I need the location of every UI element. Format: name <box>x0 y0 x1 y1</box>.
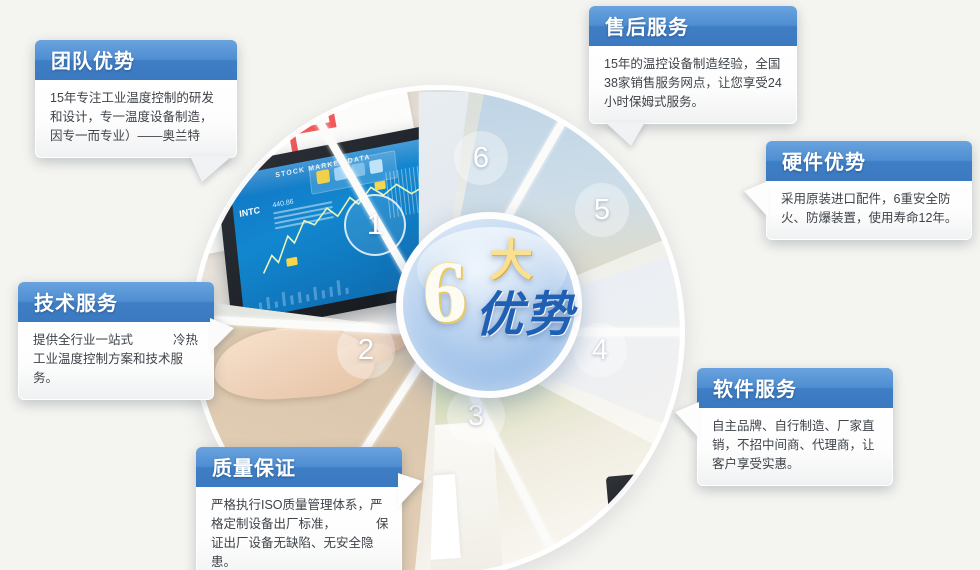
card-pointer <box>190 156 232 182</box>
card-body: 采用原装进口配件，6重安全防火、防爆装置，使用寿命12年。 <box>766 181 972 240</box>
card-title: 质量保证 <box>196 447 402 487</box>
calculator <box>606 471 674 530</box>
callout-card-team[interactable]: 团队优势 15年专注工业温度控制的研发和设计，专一温度设备制造，因专一而专业）—… <box>35 40 237 158</box>
card-pointer <box>210 318 234 352</box>
colored-page-tabs <box>627 528 670 548</box>
segment-badge-5[interactable]: 5 <box>575 183 629 237</box>
card-body: 15年的温控设备制造经验，全国38家销售服务网点，让您享受24小时保姆式服务。 <box>589 46 797 124</box>
card-pointer <box>744 181 768 217</box>
hub-number: 6 <box>423 249 467 337</box>
card-title: 团队优势 <box>35 40 237 80</box>
callout-card-hardware[interactable]: 硬件优势 采用原装进口配件，6重安全防火、防爆装置，使用寿命12年。 <box>766 141 972 240</box>
card-pointer <box>398 473 422 507</box>
card-title: 技术服务 <box>18 282 214 322</box>
card-pointer <box>605 122 645 146</box>
card-pointer <box>675 402 699 438</box>
card-title: 软件服务 <box>697 368 893 408</box>
segment-badge-2[interactable]: 2 <box>337 321 395 379</box>
card-body: 自主品牌、自行制造、厂家直销，不招中间商、代理商，让客户享受实惠。 <box>697 408 893 486</box>
callout-card-software[interactable]: 软件服务 自主品牌、自行制造、厂家直销，不招中间商、代理商，让客户享受实惠。 <box>697 368 893 486</box>
segment-badge-1[interactable]: 1 <box>344 194 406 256</box>
callout-card-after-sales[interactable]: 售后服务 15年的温控设备制造经验，全国38家销售服务网点，让您享受24小时保姆… <box>589 6 797 124</box>
hub-subtitle: 优势 <box>475 289 575 341</box>
segment-badge-6[interactable]: 6 <box>454 131 508 185</box>
callout-card-quality[interactable]: 质量保证 严格执行ISO质量管理体系，严格定制设备出厂标准，保证出厂设备无缺陷、… <box>196 447 402 570</box>
hub-big-char: 大 <box>489 239 533 283</box>
segment-badge-4[interactable]: 4 <box>573 323 627 377</box>
card-body: 提供全行业一站式冷热工业温度控制方案和技术服务。 <box>18 322 214 400</box>
card-title: 售后服务 <box>589 6 797 46</box>
center-hub: 6 大 优势 <box>396 212 582 398</box>
card-title: 硬件优势 <box>766 141 972 181</box>
card-body: 15年专注工业温度控制的研发和设计，专一温度设备制造，因专一而专业）——奥兰特 <box>35 80 237 158</box>
card-body-line1: 提供全行业一站式 <box>33 333 133 347</box>
card-body: 严格执行ISO质量管理体系，严格定制设备出厂标准，保证出厂设备无缺陷、无安全隐患… <box>196 487 402 570</box>
callout-card-technical-service[interactable]: 技术服务 提供全行业一站式冷热工业温度控制方案和技术服务。 <box>18 282 214 400</box>
card-body-line1: 严格执行ISO质量管理体系，严格定制设备出厂标准， <box>211 498 383 531</box>
poster-canvas: STOCK MARKET DATA INTC 440.86 <box>0 0 980 570</box>
